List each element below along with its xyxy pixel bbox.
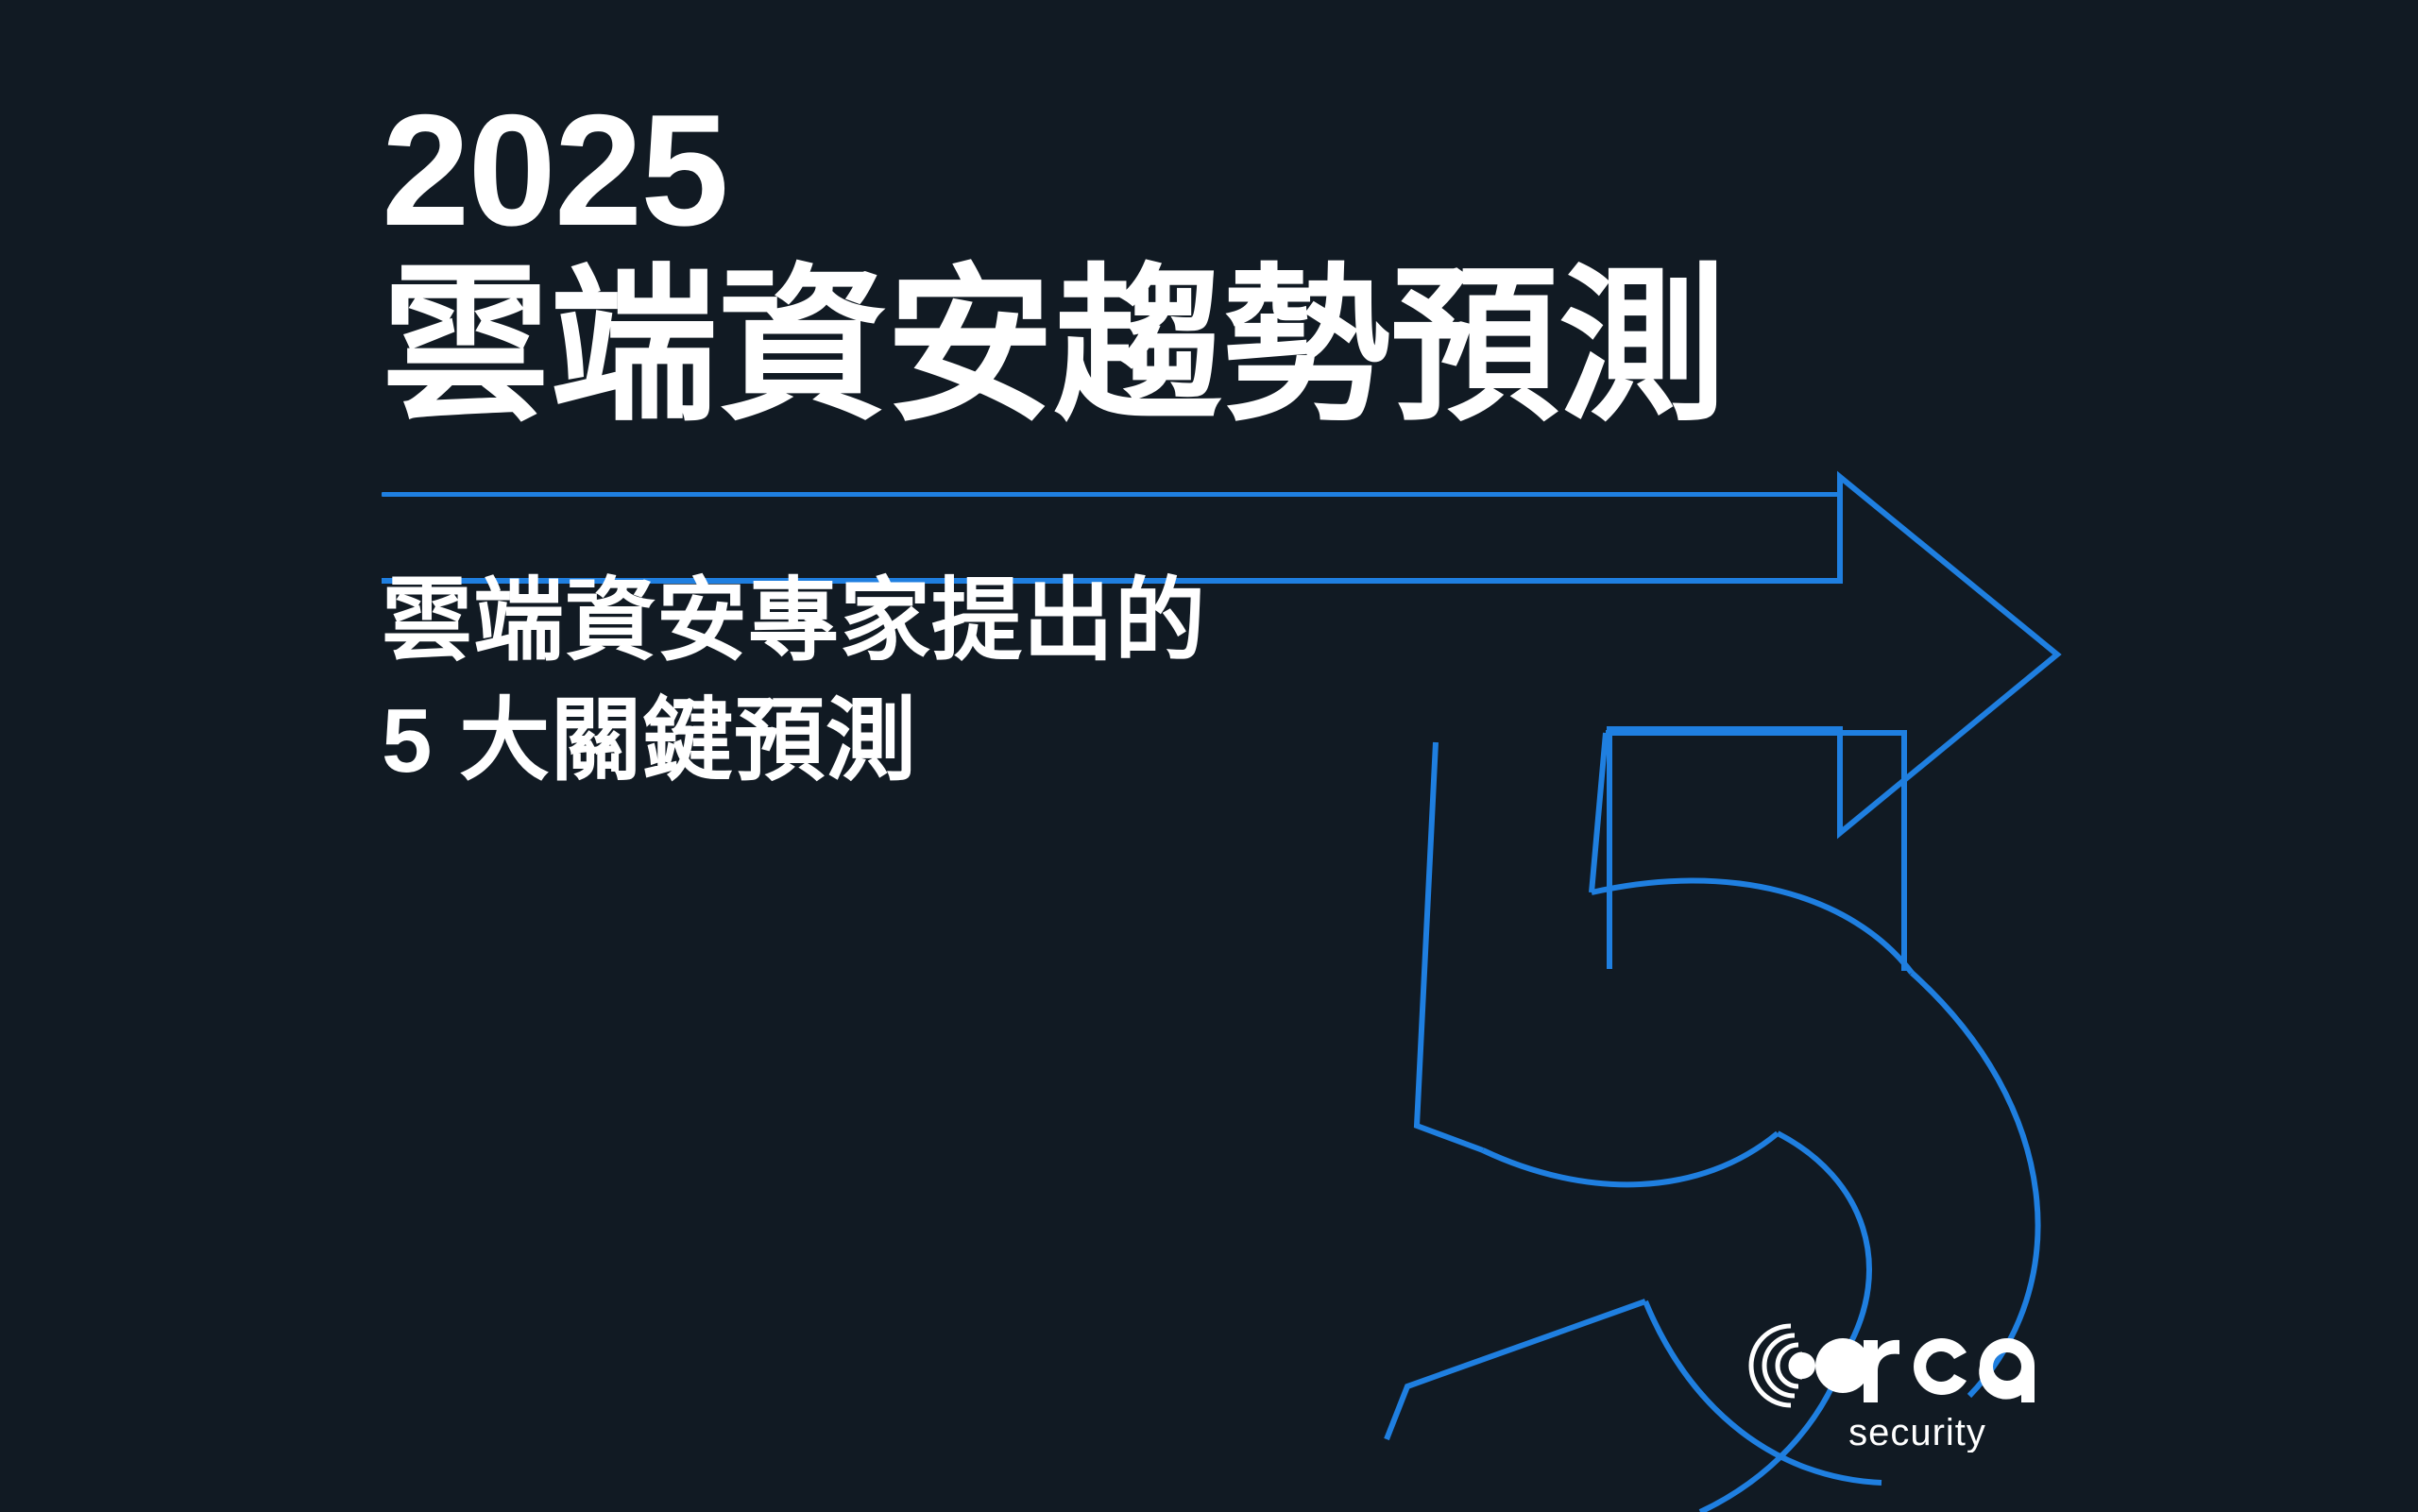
page-title: 雲端資安趨勢預測 (382, 259, 1855, 433)
subtitle-line-1: 雲端資安專家提出的 (382, 562, 1855, 682)
slide-canvas: 2025 雲端資安趨勢預測 雲端資安專家提出的 5 大關鍵預測 (0, 0, 2418, 1512)
orca-wordmark-icon (1789, 1338, 2035, 1402)
subtitle-block: 雲端資安專家提出的 5 大關鍵預測 (382, 562, 1855, 801)
year-label: 2025 (382, 91, 1855, 259)
subtitle-line-2: 5 大關鍵預測 (382, 682, 1855, 802)
logo-tagline: security (1848, 1412, 1986, 1453)
divider-container (382, 492, 1855, 494)
accent-divider (382, 492, 1838, 497)
title-block: 2025 雲端資安趨勢預測 雲端資安專家提出的 5 大關鍵預測 (382, 91, 1855, 802)
orca-security-logo: security orca security (1747, 1311, 2078, 1453)
